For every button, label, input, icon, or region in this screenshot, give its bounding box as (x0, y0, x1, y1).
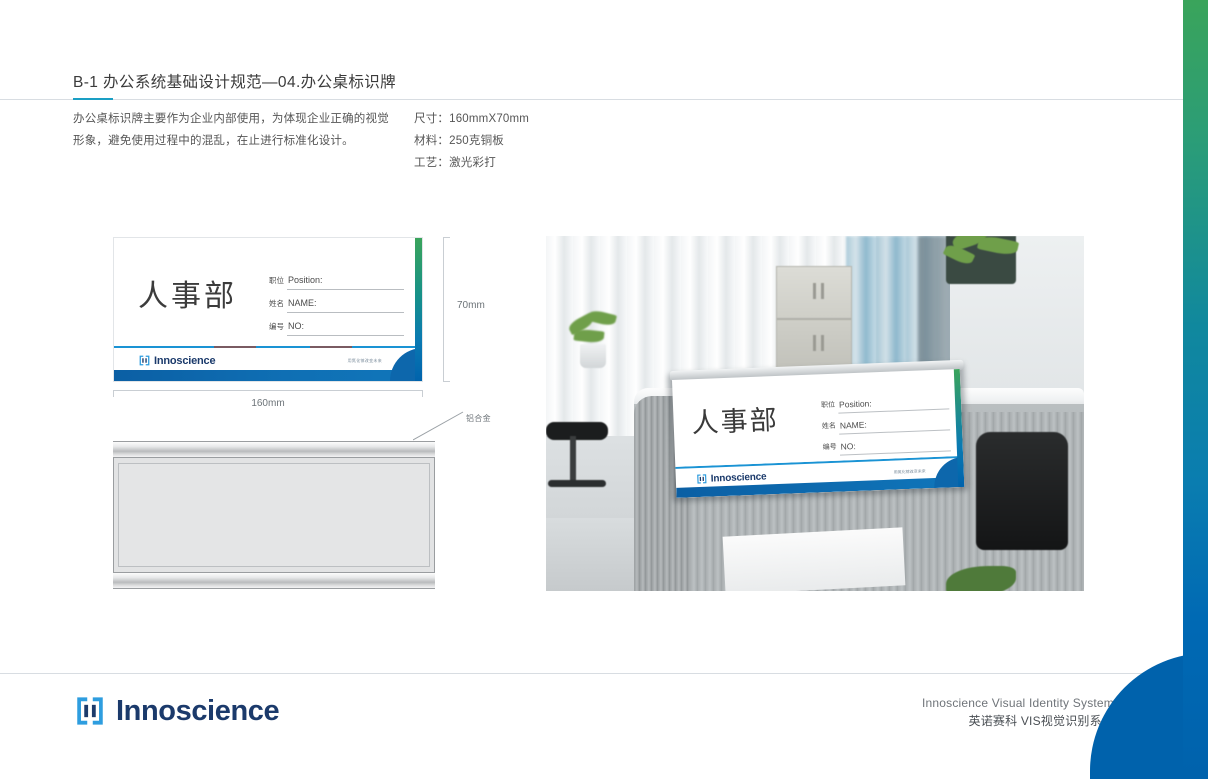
innoscience-mark-icon (696, 473, 708, 485)
dimension-height-label: 70mm (457, 300, 485, 311)
mounted-field-position-cn: 职位 (821, 400, 835, 411)
intro-line-1: 办公桌标识牌主要作为企业内部使用，为体现企业正确的视觉 (73, 108, 403, 130)
callout-leader-line (413, 408, 473, 443)
spec-material: 材料：250克铜板 (414, 130, 529, 152)
holder-rail-bottom (113, 572, 435, 589)
dimension-width-label: 160mm (113, 398, 423, 409)
nameplate-tagline: 用氮化镓改变未来 (348, 358, 382, 364)
nameplate-card: 人事部 职位 Position: 姓名 NAME: 编号 NO: (113, 237, 423, 382)
innoscience-mark-icon (73, 694, 107, 728)
footer-brand: Innoscience (116, 697, 279, 726)
desk-papers (723, 527, 906, 591)
nameplate-logo: Innoscience (138, 354, 215, 367)
mounted-field-no-en: NO: (840, 441, 855, 452)
aluminium-holder-drawing (113, 441, 435, 589)
mounted-logo: Innoscience (696, 470, 767, 485)
intro-line-2: 形象，避免使用过程中的混乱，在止进行标准化设计。 (73, 130, 403, 152)
footer-logo: Innoscience (73, 694, 279, 728)
nameplate-edge-gradient (415, 238, 422, 382)
page-title: B-1 办公系统基础设计规范—04.办公桌标识牌 (73, 70, 396, 92)
field-position-label-en: Position: (288, 275, 323, 285)
mounted-tagline: 用氮化镓改变未来 (894, 468, 926, 475)
field-name-label-cn: 姓名 (269, 298, 284, 309)
edge-gradient-stripe (1183, 0, 1208, 779)
holder-rail-top (113, 441, 435, 458)
spec-list: 尺寸：160mmX70mm 材料：250克铜板 工艺：激光彩打 (414, 108, 529, 174)
office-chair-left (546, 422, 608, 440)
nameplate-artwork: 人事部 职位 Position: 姓名 NAME: 编号 NO: (113, 237, 423, 382)
mounted-field-no-cn: 编号 (823, 442, 837, 453)
office-cabinet (776, 266, 852, 370)
mounted-field-name-en: NAME: (840, 420, 867, 431)
nameplate-footer-band: Innoscience 用氮化镓改变未来 (114, 346, 423, 381)
spec-size: 尺寸：160mmX70mm (414, 108, 529, 130)
field-position: 职位 Position: (269, 272, 404, 295)
field-no-rule (287, 335, 404, 336)
innoscience-mark-icon (138, 354, 151, 367)
office-chair-right (976, 432, 1068, 550)
header-divider-accent (73, 98, 113, 100)
field-position-label-cn: 职位 (269, 275, 284, 286)
field-no-label-cn: 编号 (269, 321, 284, 332)
mounted-brand: Innoscience (711, 471, 767, 484)
field-position-rule (287, 289, 404, 290)
footer-divider (0, 673, 1183, 674)
footer-system-name: Innoscience Visual Identity System 英诺赛科 … (922, 694, 1114, 730)
mounted-field-name-cn: 姓名 (822, 421, 836, 432)
field-name: 姓名 NAME: (269, 295, 404, 318)
intro-description: 办公桌标识牌主要作为企业内部使用，为体现企业正确的视觉 形象，避免使用过程中的混… (73, 108, 403, 152)
mounted-field-position-en: Position: (839, 398, 872, 409)
field-name-rule (287, 312, 404, 313)
nameplate-fields: 职位 Position: 姓名 NAME: 编号 NO: (269, 272, 404, 341)
holder-material-callout: 铝合金 (466, 413, 491, 424)
field-no: 编号 NO: (269, 318, 404, 341)
header-divider (0, 99, 1183, 100)
footer-system-en: Innoscience Visual Identity System (922, 694, 1114, 712)
photo-mockup: 人事部 职位 Position: 姓名 NAME: 编号 NO: (546, 236, 1084, 591)
spec-process: 工艺：激光彩打 (414, 152, 529, 174)
field-name-label-en: NAME: (288, 298, 317, 308)
mounted-department: 人事部 (691, 398, 779, 440)
footer-system-cn: 英诺赛科 VIS视觉识别系统 (922, 712, 1114, 730)
nameplate-department: 人事部 (138, 271, 237, 315)
mounted-nameplate: 人事部 职位 Position: 姓名 NAME: 编号 NO: (672, 369, 964, 498)
field-no-label-en: NO: (288, 321, 304, 331)
nameplate-brand: Innoscience (154, 355, 215, 367)
mounted-fields: 职位 Position: 姓名 NAME: 编号 NO: (821, 393, 951, 461)
dimension-guide-vertical (443, 237, 457, 382)
